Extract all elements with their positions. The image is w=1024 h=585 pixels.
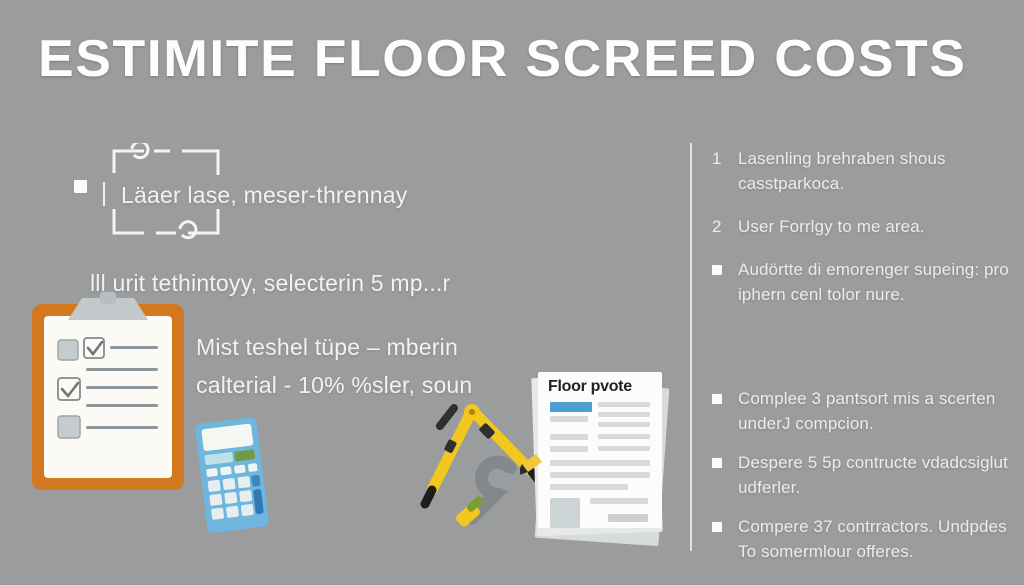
left-item-1: Läаer lase, meser-thrennay	[74, 180, 674, 210]
right-item-text: Despere 5 5p contructe vdadcsiglut udfer…	[738, 450, 1012, 500]
tick-mark-icon	[103, 182, 105, 206]
document-title: Floor pvote	[548, 378, 632, 396]
column-divider	[690, 143, 692, 551]
square-bullet-icon	[74, 180, 87, 193]
right-list-item: 2 User Forrlgy to me area.	[712, 214, 1012, 239]
right-column-top: 1 Lasenling brehraben shous casstparkoca…	[712, 146, 1012, 325]
right-list-item: Complee 3 pantsort mis a scerten underJ …	[712, 386, 1012, 436]
right-item-text: Lasenling brehraben shous casstparkoca.	[738, 146, 1012, 196]
square-bullet-icon	[712, 450, 724, 468]
right-list-item: 1 Lasenling brehraben shous casstparkoca…	[712, 146, 1012, 196]
right-list-item: Despere 5 5p contructe vdadcsiglut udfer…	[712, 450, 1012, 500]
document-stack-illustration: Floor pvote	[520, 358, 680, 548]
clipboard-checklist-illustration	[24, 290, 192, 495]
right-list-item: Audörtte di emorenger supeing: pro ipher…	[712, 257, 1012, 307]
right-item-text: Compere 37 contrractors. Undpdes To some…	[738, 514, 1012, 564]
right-column-bottom: Complee 3 pantsort mis a scerten underJ …	[712, 386, 1012, 578]
right-item-text: Audörtte di emorenger supeing: pro ipher…	[738, 257, 1012, 307]
calculator-illustration	[191, 416, 275, 534]
right-item-text: Complee 3 pantsort mis a scerten underJ …	[738, 386, 1012, 436]
right-list-item: Compere 37 contrractors. Undpdes To some…	[712, 514, 1012, 564]
square-bullet-icon	[712, 386, 724, 404]
wrench-icon	[454, 462, 517, 528]
list-marker-number: 1	[712, 146, 724, 171]
left-item-1-text: Läаer lase, meser-thrennay	[121, 180, 407, 210]
square-bullet-icon	[712, 514, 724, 532]
poster-canvas: ESTIMITE FLOOR SCREED COSTS Läаer lase, …	[0, 0, 1024, 585]
list-marker-number: 2	[712, 214, 724, 239]
right-item-text: User Forrlgy to me area.	[738, 214, 925, 239]
square-bullet-icon	[712, 257, 724, 275]
